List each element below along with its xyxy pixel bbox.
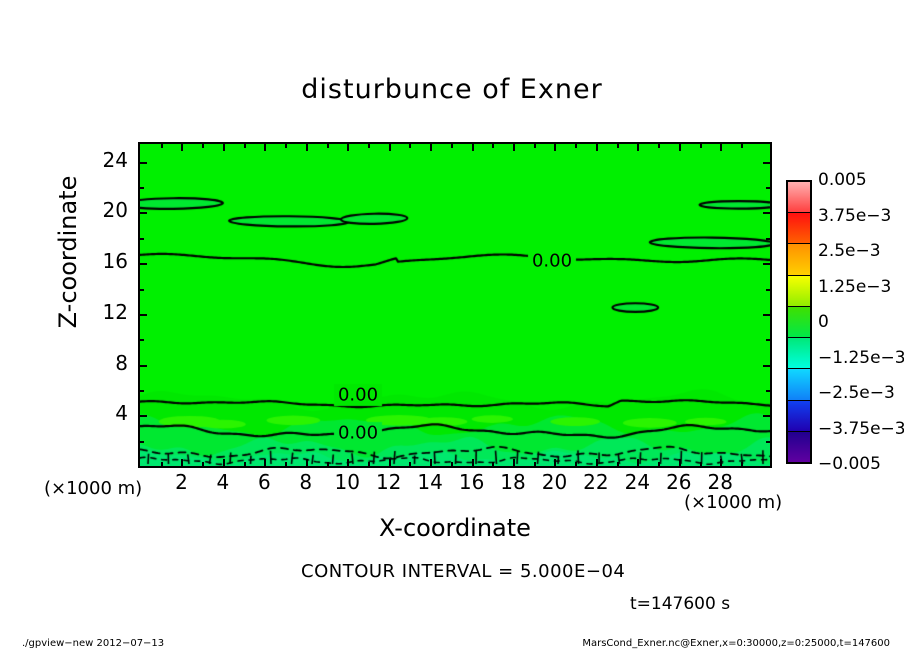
time-annotation: t=147600 s	[630, 594, 730, 614]
colorbar-tick-label: −3.75e−3	[818, 419, 904, 439]
x-tick-label: 24	[625, 470, 650, 494]
x-tick-minor	[658, 462, 660, 466]
x-tick-label: 22	[583, 470, 608, 494]
colorbar-gradient	[786, 180, 812, 464]
x-tick-minor	[617, 144, 619, 148]
x-units-right-label: (×1000 m)	[684, 492, 782, 513]
x-tick-minor	[534, 462, 536, 466]
contour-value-label: 0.00	[532, 251, 572, 272]
contour-field-canvas	[140, 144, 770, 466]
y-tick	[763, 162, 770, 164]
x-tick-minor	[368, 144, 370, 148]
y-tick-minor	[140, 339, 144, 341]
x-tick	[679, 144, 681, 151]
y-tick-minor	[766, 289, 770, 291]
x-tick	[679, 459, 681, 466]
colorbar-segment	[788, 338, 810, 369]
page-title: disturbunce of Exner	[0, 74, 904, 105]
colorbar-segment	[788, 213, 810, 244]
x-tick	[472, 144, 474, 151]
x-tick	[596, 459, 598, 466]
x-tick-label: 8	[299, 470, 312, 494]
x-tick-label: 2	[175, 470, 188, 494]
x-tick	[223, 459, 225, 466]
x-tick-minor	[700, 462, 702, 466]
y-tick	[763, 263, 770, 265]
x-tick-minor	[658, 144, 660, 148]
y-tick-minor	[140, 390, 144, 392]
x-tick-label: 18	[500, 470, 525, 494]
x-tick	[389, 459, 391, 466]
y-tick	[140, 212, 147, 214]
x-tick	[223, 144, 225, 151]
x-tick	[637, 144, 639, 151]
y-tick-minor	[766, 390, 770, 392]
x-tick-minor	[617, 462, 619, 466]
y-tick	[763, 415, 770, 417]
x-tick-label: 28	[708, 470, 733, 494]
x-tick-label: 20	[542, 470, 567, 494]
y-tick	[140, 365, 147, 367]
x-tick	[181, 144, 183, 151]
colorbar-segment	[788, 401, 810, 432]
x-tick	[264, 459, 266, 466]
x-tick-minor	[492, 462, 494, 466]
colorbar-segment	[788, 244, 810, 275]
contour-interval-annotation: CONTOUR INTERVAL = 5.000E−04	[301, 561, 625, 582]
x-tick-label: 6	[258, 470, 271, 494]
x-tick-minor	[285, 462, 287, 466]
x-tick-minor	[700, 144, 702, 148]
x-tick-label: 10	[335, 470, 360, 494]
y-tick-minor	[140, 441, 144, 443]
x-tick	[306, 459, 308, 466]
colorbar[interactable]	[786, 180, 812, 464]
y-tick-minor	[140, 187, 144, 189]
colorbar-segment	[788, 369, 810, 400]
x-tick-minor	[451, 144, 453, 148]
y-tick-minor	[766, 238, 770, 240]
y-tick-minor	[766, 441, 770, 443]
x-tick-minor	[285, 144, 287, 148]
x-tick	[347, 459, 349, 466]
x-tick-minor	[492, 144, 494, 148]
x-tick-minor	[161, 462, 163, 466]
y-axis-title: Z-coordinate	[54, 122, 82, 382]
y-tick	[140, 314, 147, 316]
x-tick-label: 12	[376, 470, 401, 494]
x-tick-label: 4	[217, 470, 230, 494]
y-tick	[763, 314, 770, 316]
contour-value-label: 0.00	[338, 385, 378, 406]
x-tick-minor	[368, 462, 370, 466]
x-tick-label: 16	[459, 470, 484, 494]
x-tick-minor	[327, 462, 329, 466]
footer-left-text: ./gpview−new 2012−07−13	[22, 638, 164, 649]
colorbar-tick-label: 1.25e−3	[818, 277, 891, 297]
x-tick	[554, 459, 556, 466]
colorbar-segment	[788, 182, 810, 213]
y-tick	[140, 263, 147, 265]
x-tick	[513, 144, 515, 151]
x-axis-title: X-coordinate	[138, 514, 772, 542]
y-tick	[763, 212, 770, 214]
x-tick-minor	[741, 462, 743, 466]
x-tick	[306, 144, 308, 151]
x-tick	[554, 144, 556, 151]
colorbar-segment	[788, 432, 810, 462]
x-tick-minor	[202, 462, 204, 466]
x-tick-minor	[327, 144, 329, 148]
contour-value-label: 0.00	[338, 423, 378, 444]
y-tick-minor	[140, 289, 144, 291]
colorbar-tick-label: −0.005	[818, 454, 881, 474]
x-tick-minor	[161, 144, 163, 148]
x-tick	[347, 144, 349, 151]
x-tick	[181, 459, 183, 466]
x-tick	[430, 459, 432, 466]
x-units-left-label: (×1000 m)	[44, 478, 142, 499]
x-tick	[472, 459, 474, 466]
x-tick	[637, 459, 639, 466]
x-tick-minor	[409, 144, 411, 148]
x-tick-minor	[409, 462, 411, 466]
y-tick-minor	[140, 238, 144, 240]
colorbar-tick-label: 2.5e−3	[818, 241, 881, 261]
colorbar-tick-label: 0	[818, 312, 829, 332]
x-tick-minor	[451, 462, 453, 466]
x-tick-minor	[575, 144, 577, 148]
x-tick	[513, 459, 515, 466]
x-tick-minor	[534, 144, 536, 148]
x-tick	[264, 144, 266, 151]
y-tick	[140, 162, 147, 164]
y-tick	[763, 365, 770, 367]
y-tick	[140, 415, 147, 417]
x-tick-minor	[575, 462, 577, 466]
colorbar-tick-label: 0.005	[818, 170, 867, 190]
x-tick-label: 14	[417, 470, 442, 494]
x-tick-minor	[202, 144, 204, 148]
colorbar-segment	[788, 307, 810, 338]
x-tick-minor	[244, 462, 246, 466]
x-tick	[430, 144, 432, 151]
colorbar-segment	[788, 276, 810, 307]
x-tick-minor	[244, 144, 246, 148]
plot-root: disturbunce of Exner 0.000.000.00 246810…	[0, 0, 904, 654]
x-tick	[596, 144, 598, 151]
x-tick	[720, 459, 722, 466]
plot-area[interactable]: 0.000.000.00	[138, 142, 772, 468]
y-tick-minor	[766, 339, 770, 341]
x-tick-label: 26	[666, 470, 691, 494]
footer-right-text: MarsCond_Exner.nc@Exner,x=0:30000,z=0:25…	[582, 638, 890, 649]
x-tick	[389, 144, 391, 151]
colorbar-tick-label: −1.25e−3	[818, 348, 904, 368]
y-tick-minor	[766, 187, 770, 189]
colorbar-tick-label: −2.5e−3	[818, 383, 895, 403]
colorbar-tick-label: 3.75e−3	[818, 206, 891, 226]
x-tick	[720, 144, 722, 151]
x-tick-minor	[741, 144, 743, 148]
